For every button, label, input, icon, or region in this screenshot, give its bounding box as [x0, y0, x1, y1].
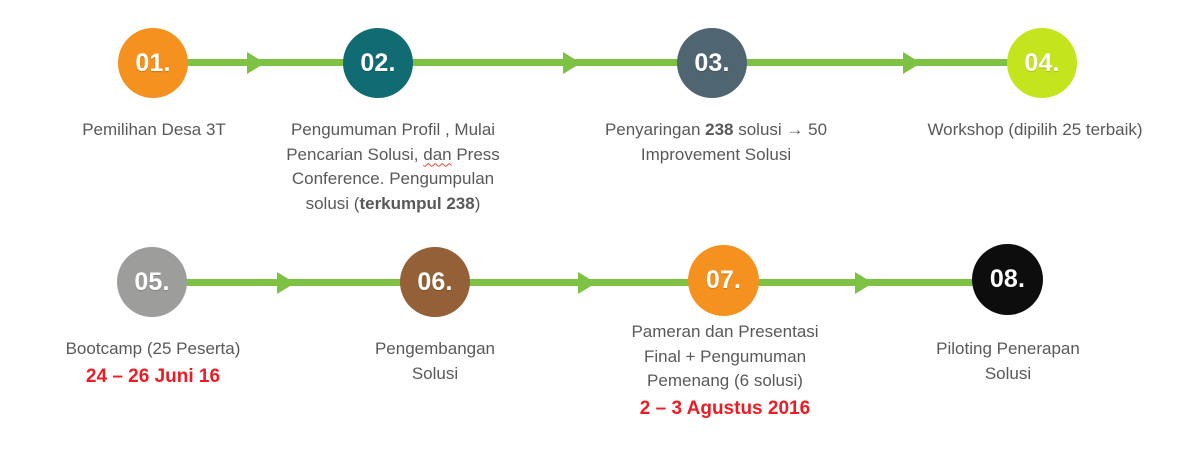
- step-caption-07-line-3: Pemenang (6 solusi): [647, 371, 803, 390]
- step-caption-04-line-1: Workshop (dipilih 25 terbaik): [927, 120, 1142, 139]
- arrowhead-3-4-icon: [903, 52, 921, 74]
- step-caption-07: Pameran dan Presentasi Final + Pengumuma…: [605, 320, 845, 422]
- step-caption-07-line-2: Final + Pengumuman: [644, 347, 806, 366]
- step-caption-04: Workshop (dipilih 25 terbaik): [890, 118, 1180, 143]
- step-caption-07-line-1: Pameran dan Presentasi: [631, 322, 818, 341]
- step-caption-02-line-2c: Press: [452, 145, 500, 164]
- process-timeline-diagram: 01. 02. 03. 04. Pemilihan Desa 3T Pengum…: [0, 0, 1200, 463]
- step-caption-02-line-3: Conference. Pengumpulan: [292, 169, 494, 188]
- step-caption-06-line-1: Pengembangan: [375, 339, 495, 358]
- step-node-06[interactable]: 06.: [400, 247, 470, 317]
- arrowhead-5-6-icon: [277, 272, 295, 294]
- step-number-08: 08.: [990, 267, 1025, 292]
- step-node-01[interactable]: 01.: [118, 28, 188, 98]
- step-caption-06-line-2: Solusi: [412, 364, 458, 383]
- step-node-03[interactable]: 03.: [677, 28, 747, 98]
- step-caption-02-line-4c: ): [475, 194, 481, 213]
- step-date-07: 2 – 3 Agustus 2016: [605, 395, 845, 423]
- step-caption-03-line-2: Improvement Solusi: [641, 145, 791, 164]
- arrowhead-6-7-icon: [578, 272, 596, 294]
- step-caption-03-line-1c: solusi → 50: [734, 120, 828, 139]
- step-caption-01: Pemilihan Desa 3T: [35, 118, 273, 143]
- step-caption-02-line-2a: Pencarian Solusi,: [286, 145, 423, 164]
- step-caption-03: Penyaringan 238 solusi → 50 Improvement …: [590, 118, 842, 167]
- step-caption-02-line-1: Pengumuman Profil , Mulai: [291, 120, 495, 139]
- step-number-05: 05.: [134, 270, 169, 295]
- step-node-05[interactable]: 05.: [117, 247, 187, 317]
- step-caption-05: Bootcamp (25 Peserta) 24 – 26 Juni 16: [35, 337, 271, 390]
- step-caption-02: Pengumuman Profil , Mulai Pencarian Solu…: [262, 118, 524, 217]
- step-caption-02-misspelled: dan: [423, 145, 451, 164]
- step-node-08[interactable]: 08.: [972, 244, 1043, 315]
- step-number-01: 01.: [135, 51, 170, 76]
- step-number-07: 07.: [706, 268, 741, 293]
- step-number-03: 03.: [694, 51, 729, 76]
- step-caption-03-bold: 238: [705, 120, 733, 139]
- step-date-05: 24 – 26 Juni 16: [35, 363, 271, 391]
- arrowhead-1-2-icon: [247, 52, 265, 74]
- step-caption-02-bold: terkumpul 238: [359, 194, 474, 213]
- step-caption-01-line-1: Pemilihan Desa 3T: [82, 120, 226, 139]
- step-node-07[interactable]: 07.: [688, 245, 759, 316]
- step-node-02[interactable]: 02.: [343, 28, 413, 98]
- step-number-06: 06.: [417, 270, 452, 295]
- step-node-04[interactable]: 04.: [1007, 28, 1077, 98]
- step-caption-08-line-2: Solusi: [985, 364, 1031, 383]
- step-caption-03-line-1a: Penyaringan: [605, 120, 705, 139]
- step-caption-08: Piloting Penerapan Solusi: [900, 337, 1116, 386]
- arrowhead-2-3-icon: [563, 52, 581, 74]
- step-number-02: 02.: [360, 51, 395, 76]
- connector-line-2-3: [376, 59, 716, 66]
- step-caption-05-line-1: Bootcamp (25 Peserta): [66, 339, 241, 358]
- step-caption-08-line-1: Piloting Penerapan: [936, 339, 1080, 358]
- step-caption-06: Pengembangan Solusi: [330, 337, 540, 386]
- step-number-04: 04.: [1024, 51, 1059, 76]
- connector-line-3-4: [708, 59, 1046, 66]
- arrowhead-7-8-icon: [855, 272, 873, 294]
- step-caption-02-line-4a: solusi (: [306, 194, 360, 213]
